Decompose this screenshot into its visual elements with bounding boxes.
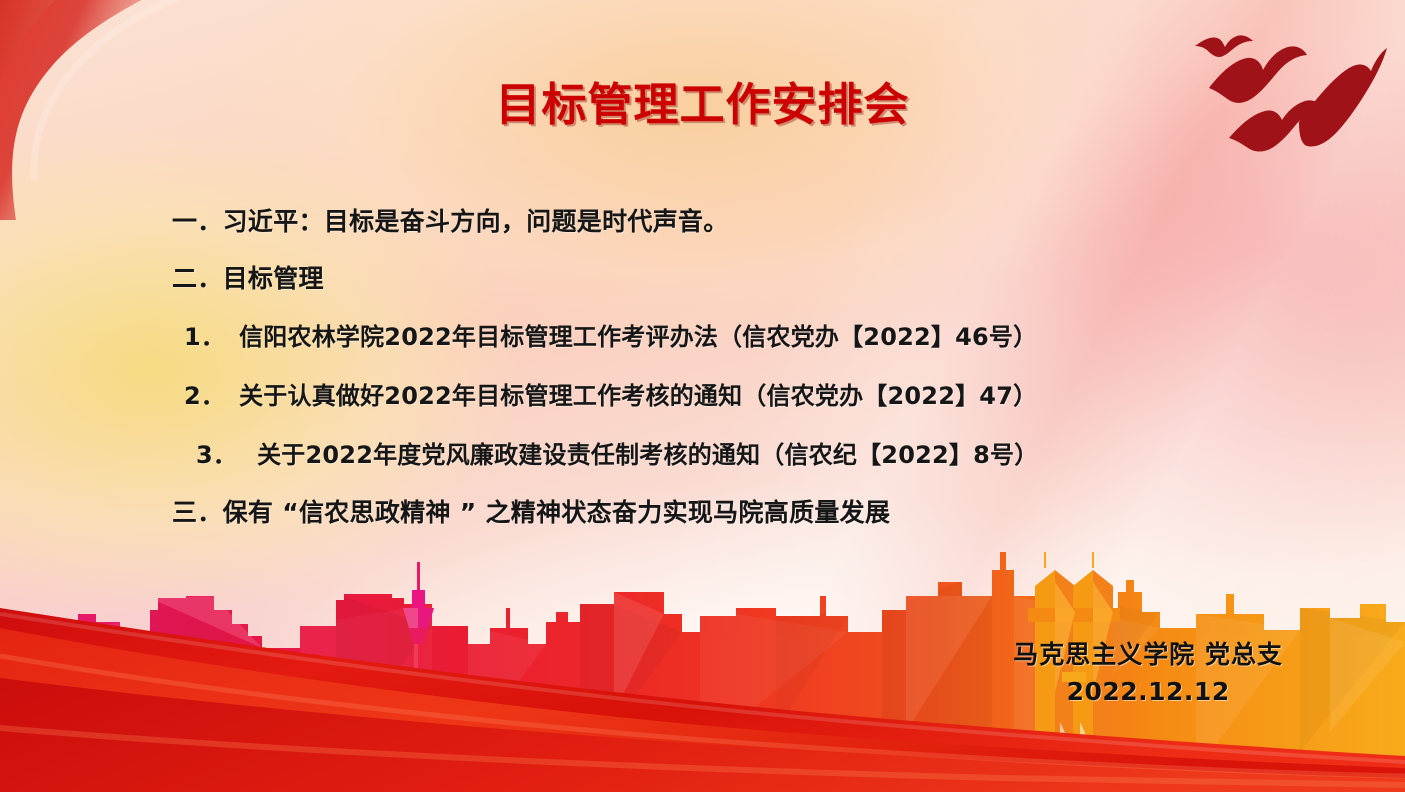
outline-item-6: 三．保有 “信农思政精神 ” 之精神状态奋力实现马院高质量发展: [0, 489, 1405, 536]
outline-text-2: 目标管理: [223, 264, 324, 293]
page-title: 目标管理工作安排会: [495, 68, 909, 133]
outline-marker-1: 一．: [172, 207, 223, 236]
outline-marker-4: 2．: [184, 382, 225, 410]
footer-date: 2022.12.12: [1013, 677, 1283, 706]
outline-item-2: 二．目标管理: [0, 255, 1405, 302]
outline-text-4: 关于认真做好2022年目标管理工作考核的通知（信农党办【2022】47）: [239, 382, 1037, 410]
outline-marker-2: 二．: [172, 264, 223, 293]
outline-text-3: 信阳农林学院2022年目标管理工作考评办法（信农党办【2022】46号）: [239, 323, 1037, 351]
outline-text-5: 关于2022年度党风廉政建设责任制考核的通知（信农纪【2022】8号）: [257, 441, 1038, 469]
presentation-slide: 目标管理工作安排会 一．习近平：目标是奋斗方向，问题是时代声音。 二．目标管理 …: [0, 0, 1405, 792]
slide-body: 一．习近平：目标是奋斗方向，问题是时代声音。 二．目标管理 1．信阳农林学院20…: [0, 198, 1405, 536]
outline-marker-5: 3．: [196, 441, 237, 469]
slide-footer: 马克思主义学院 党总支 2022.12.12: [1013, 635, 1283, 706]
outline-marker-6: 三．: [172, 498, 223, 527]
outline-item-1: 一．习近平：目标是奋斗方向，问题是时代声音。: [0, 198, 1405, 245]
outline-item-3: 1．信阳农林学院2022年目标管理工作考评办法（信农党办【2022】46号）: [0, 314, 1215, 361]
outline-item-5: 3．关于2022年度党风廉政建设责任制考核的通知（信农纪【2022】8号）: [0, 432, 1215, 479]
outline-marker-3: 1．: [184, 323, 225, 351]
footer-organization: 马克思主义学院 党总支: [1013, 635, 1283, 671]
outline-text-6: 保有 “信农思政精神 ” 之精神状态奋力实现马院高质量发展: [223, 498, 891, 527]
outline-text-1: 习近平：目标是奋斗方向，问题是时代声音。: [223, 207, 729, 236]
slide-title: 目标管理工作安排会: [0, 68, 1405, 133]
outline-item-4: 2．关于认真做好2022年目标管理工作考核的通知（信农党办【2022】47）: [0, 373, 1215, 420]
